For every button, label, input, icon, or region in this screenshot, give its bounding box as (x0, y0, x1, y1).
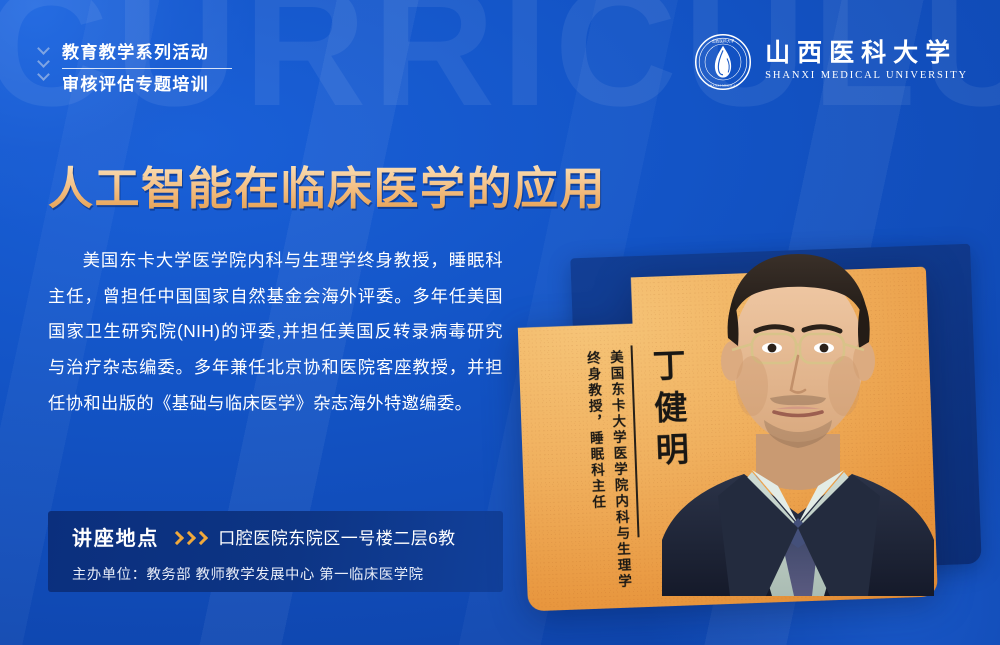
host-organizers: 主办单位：教务部 教师教学发展中心 第一临床医学院 (72, 563, 503, 584)
poster-canvas: CURRICULUM 教育教学系列活动 审核评估专题培训 山西医科大学 SHAN… (0, 0, 1000, 645)
chevron-right-triple-icon (171, 529, 206, 544)
header-chevron-group (38, 40, 51, 79)
venue-row: 讲座地点 口腔医院东院区一号楼二层6教 (72, 522, 503, 551)
speaker-bio: 美国东卡大学医学院内科与生理学终身教授，睡眠科主任，曾担任中国国家自然基金会海外… (48, 243, 503, 421)
speaker-portrait (648, 196, 948, 596)
university-crest-icon: 山西医科大学 SHANXI MEDICAL (694, 33, 752, 91)
chevron-down-icon (38, 44, 51, 53)
info-panel: 讲座地点 口腔医院东院区一号楼二层6教 主办单位：教务部 教师教学发展中心 第一… (48, 511, 503, 592)
venue-value: 口腔医院东院区一号楼二层6教 (218, 524, 455, 549)
svg-text:山西医科大学: 山西医科大学 (712, 38, 735, 43)
chevron-down-icon (38, 70, 51, 79)
header-line-1: 教育教学系列活动 (62, 40, 232, 66)
university-logo: 山西医科大学 SHANXI MEDICAL 山西医科大学 SHANXI MEDI… (694, 33, 970, 91)
svg-text:SHANXI MEDICAL: SHANXI MEDICAL (708, 83, 738, 87)
logo-name-en: SHANXI MEDICAL UNIVERSITY (765, 68, 970, 85)
header-block: 教育教学系列活动 审核评估专题培训 (38, 40, 232, 99)
header-line-2: 审核评估专题培训 (62, 72, 232, 98)
chevron-down-icon (38, 57, 51, 66)
logo-name-cn: 山西医科大学 (765, 40, 970, 68)
header-divider (62, 68, 232, 69)
venue-label: 讲座地点 (72, 522, 159, 551)
